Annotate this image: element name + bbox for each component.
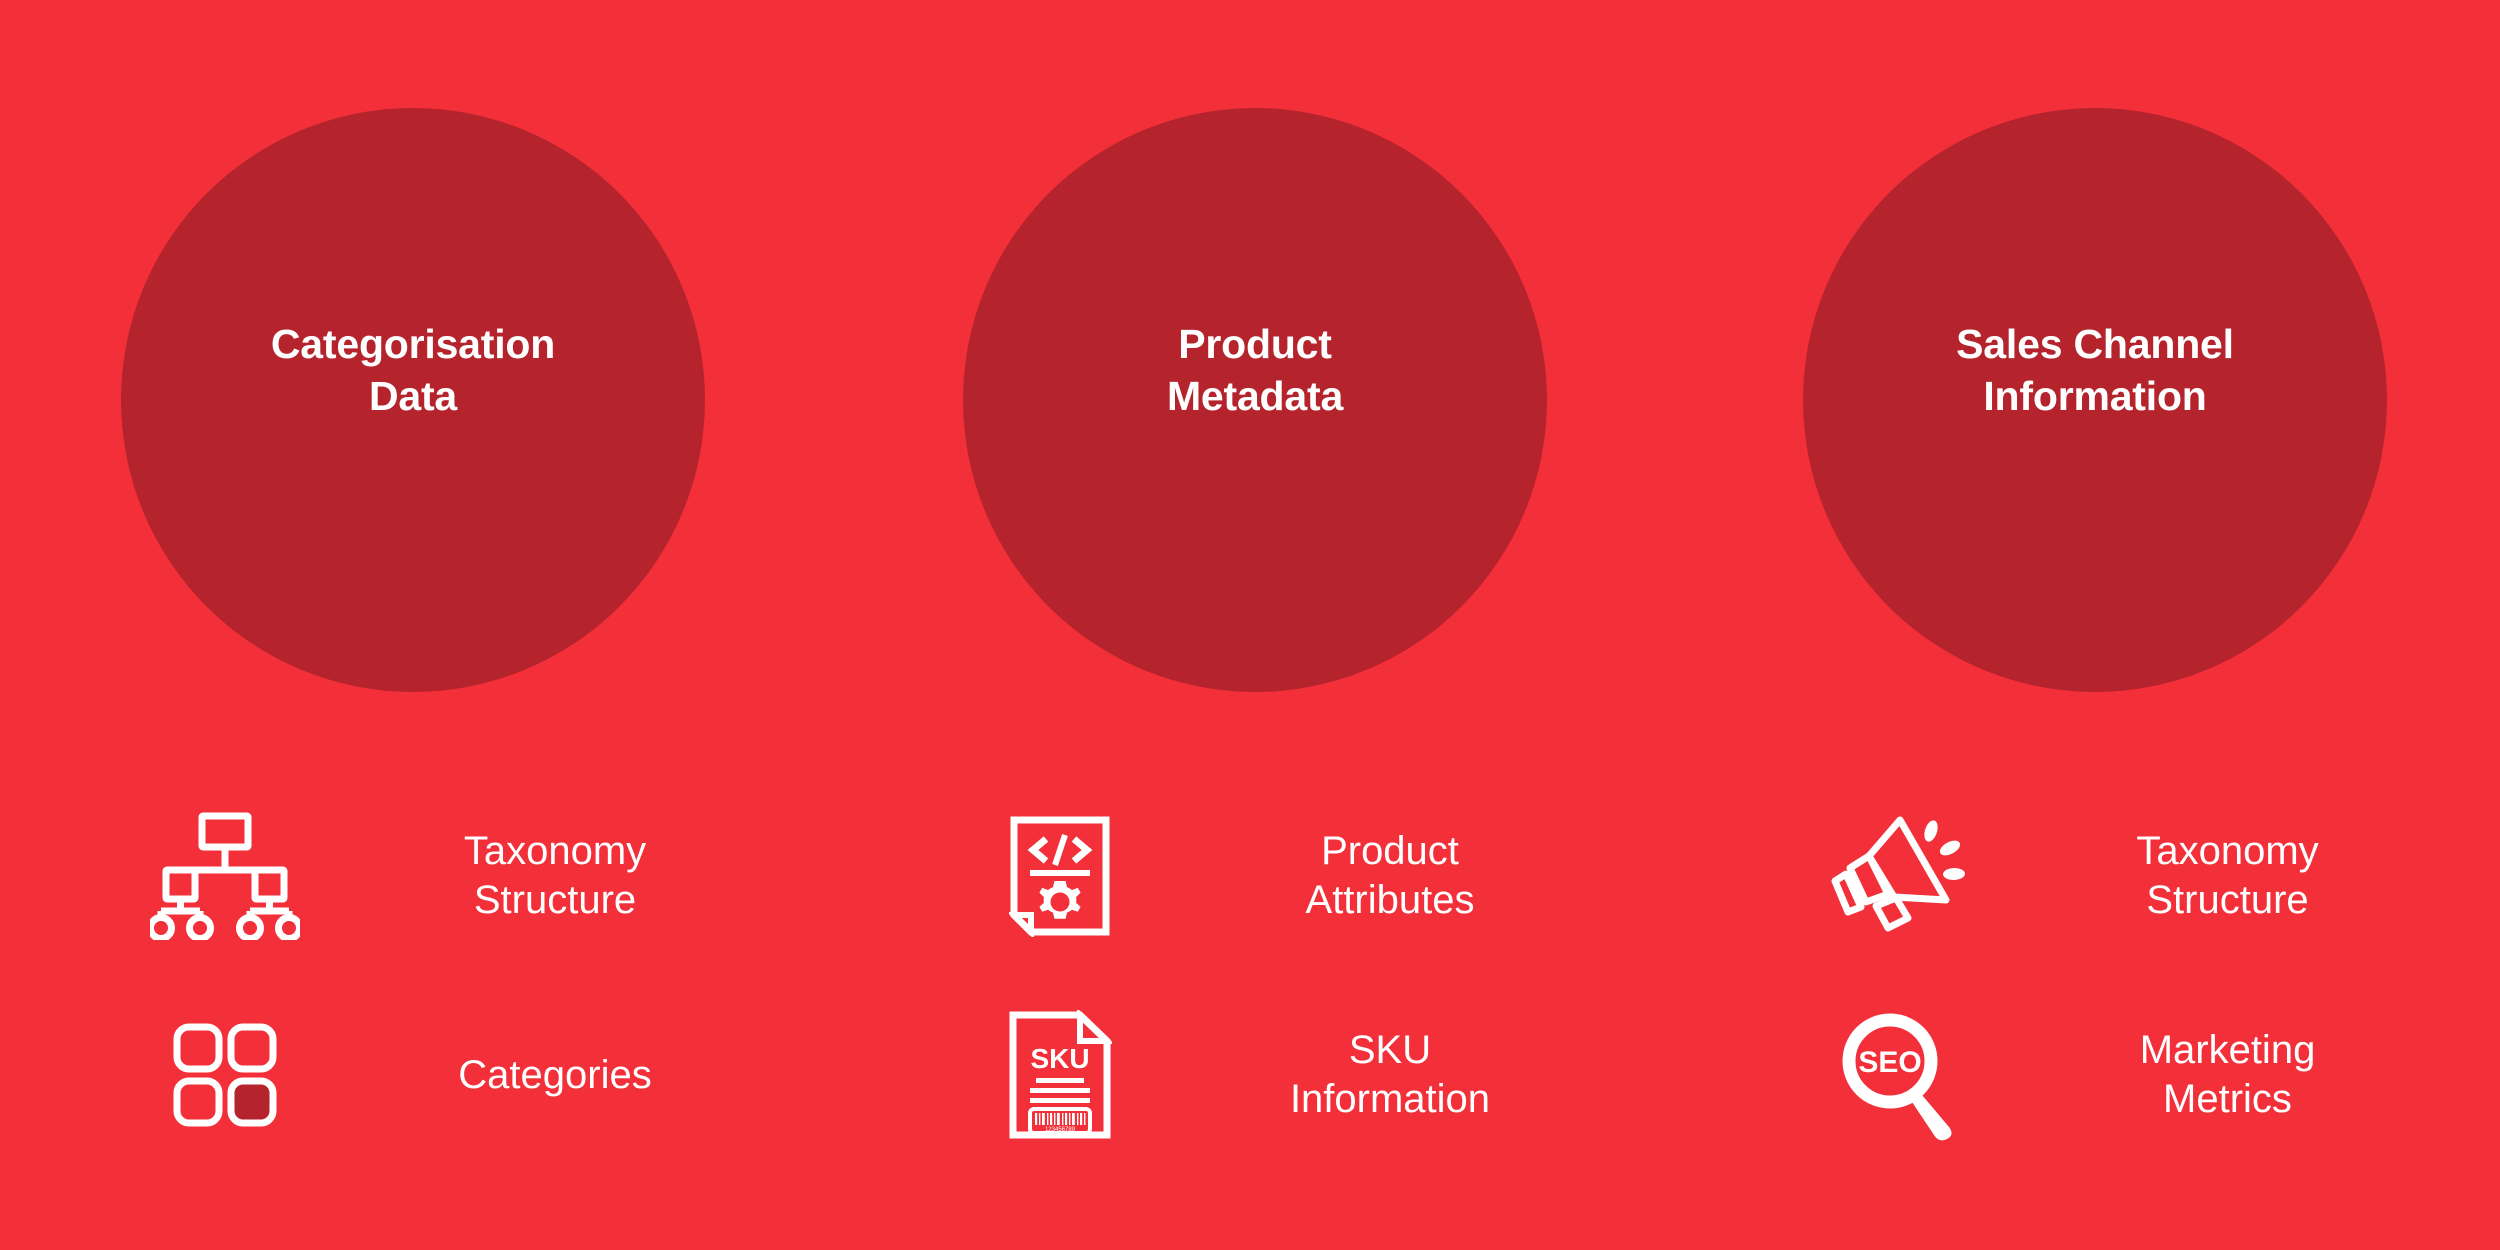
seo-magnifier-icon: SEO	[1790, 985, 2005, 1165]
list-item: SEO Marketing Metrics	[1790, 975, 2490, 1175]
sku-icon-text: SKU	[1030, 1043, 1089, 1074]
circle-shape: Sales Channel Information	[1803, 108, 2387, 692]
sku-barcode-document-icon: SKU	[955, 985, 1165, 1165]
org-chart-icon	[110, 786, 340, 966]
circle-group-categorisation-data: Categorisation Data	[121, 108, 705, 692]
list-item-label: SKU Information	[1165, 1026, 1655, 1124]
circle-label: Categorisation Data	[271, 318, 555, 423]
list-item-label: Categories	[340, 1051, 810, 1100]
circle-group-product-metadata: Product Metadata	[963, 108, 1547, 692]
seo-icon-text: SEO	[1858, 1046, 1921, 1079]
megaphone-icon	[1790, 786, 2005, 966]
list-item: Taxonomy Structure	[110, 776, 810, 976]
items-column-categorisation: Taxonomy Structure Categories	[110, 770, 810, 1250]
list-item-label: Product Attributes	[1165, 827, 1655, 925]
circle-label: Product Metadata	[1167, 318, 1343, 423]
list-item: Product Attributes	[955, 776, 1655, 976]
circles-row: Categorisation Data Product Metadata Sal…	[0, 0, 2500, 760]
circle-shape: Categorisation Data	[121, 108, 705, 692]
circle-group-sales-channel-information: Sales Channel Information	[1803, 108, 2387, 692]
circle-label: Sales Channel Information	[1956, 318, 2234, 423]
circle-shape: Product Metadata	[963, 108, 1547, 692]
grid-squares-icon	[110, 985, 340, 1165]
code-document-gear-icon	[955, 786, 1165, 966]
items-column-sales-channel: Taxonomy Structure SEO Marketing Metrics	[1790, 770, 2490, 1250]
list-item: Categories	[110, 975, 810, 1175]
items-column-product-metadata: Product Attributes SKU	[955, 770, 1655, 1250]
list-item: SKU	[955, 975, 1655, 1175]
infographic-canvas: Categorisation Data Product Metadata Sal…	[0, 0, 2500, 1250]
items-grid: Taxonomy Structure Categories	[0, 770, 2500, 1250]
list-item-label: Taxonomy Structure	[2005, 827, 2490, 925]
list-item-label: Taxonomy Structure	[340, 827, 810, 925]
barcode-digits-text: 123456789	[1045, 1127, 1076, 1133]
list-item: Taxonomy Structure	[1790, 776, 2490, 976]
list-item-label: Marketing Metrics	[2005, 1026, 2490, 1124]
